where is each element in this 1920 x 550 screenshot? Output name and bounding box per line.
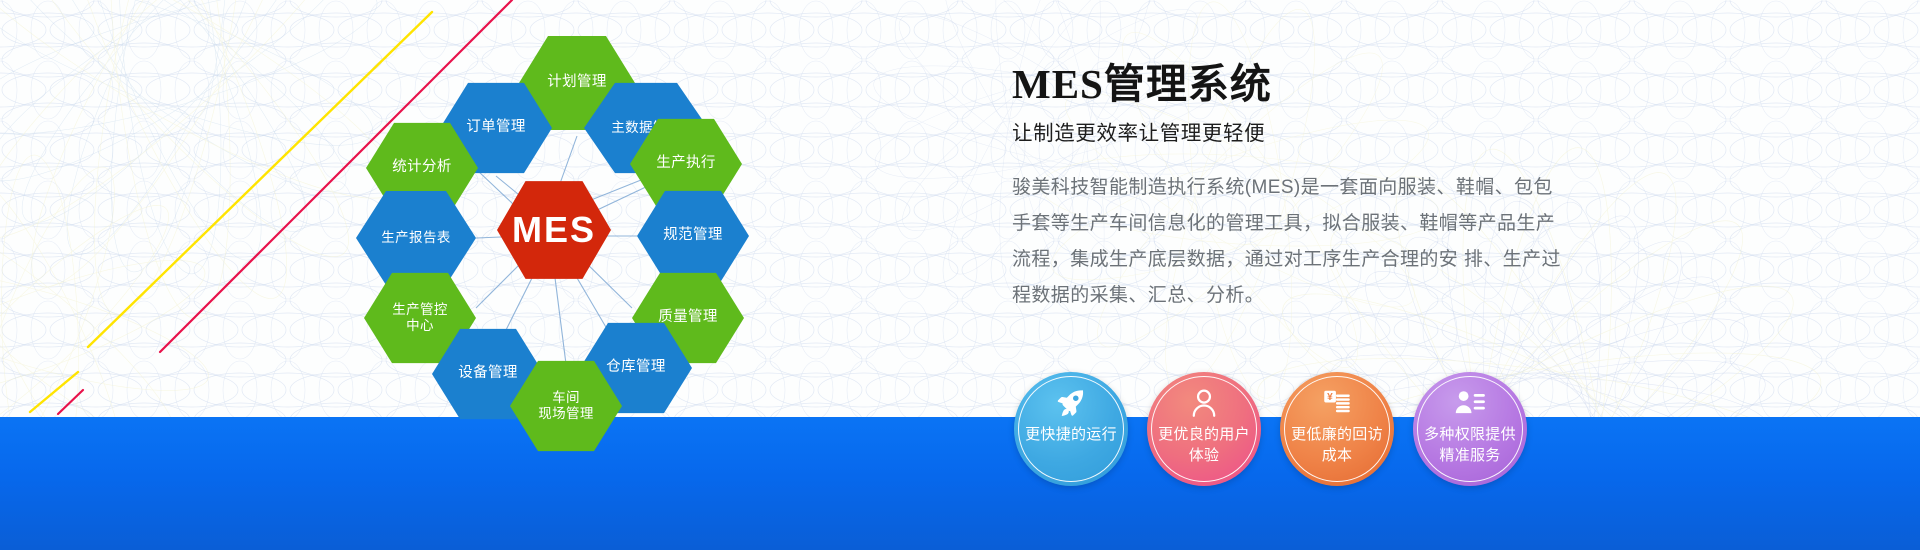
description-paragraph: 骏美科技智能制造执行系统(MES)是一套面向服装、鞋帽、包包手套等生产车间信息化…	[1012, 170, 1572, 314]
hex-node-label: 生产报告表	[381, 230, 451, 246]
badge-label: 更快捷的运行	[1017, 424, 1125, 445]
feature-badge-speed[interactable]: 更快捷的运行	[1014, 372, 1128, 486]
hex-node-label: 仓库管理	[606, 359, 666, 377]
feature-badge-list: 更快捷的运行更优良的用户 体验¥更低廉的回访 成本多种权限提供 精准服务	[1014, 372, 1527, 486]
feature-badge-experience[interactable]: 更优良的用户 体验	[1147, 372, 1261, 486]
hex-node-label: 设备管理	[458, 365, 518, 383]
hex-node-label: 质量管理	[658, 309, 718, 327]
hex-node-label: 订单管理	[466, 119, 526, 137]
badge-label: 多种权限提供 精准服务	[1416, 424, 1524, 466]
hex-node-label: 统计分析	[392, 159, 452, 177]
page-subtitle: 让制造更效率让管理更轻便	[1012, 116, 1612, 146]
user-icon	[1147, 386, 1261, 420]
feature-badge-permission[interactable]: 多种权限提供 精准服务	[1413, 372, 1527, 486]
hex-node-label: 车间 现场管理	[538, 390, 594, 423]
hex-node-label: 生产管控 中心	[392, 302, 448, 335]
hex-node-label: 生产执行	[656, 155, 716, 173]
hex-core-label: MES	[512, 208, 596, 252]
mes-banner: 计划管理订单管理主数据管理统计分析生产执行生产报告表规范管理生产管控 中心质量管…	[0, 0, 1920, 550]
coins-icon: ¥	[1280, 386, 1394, 420]
svg-text:¥: ¥	[1327, 392, 1333, 403]
rocket-icon	[1014, 386, 1128, 420]
badge-label: 更低廉的回访 成本	[1283, 424, 1391, 466]
hex-node-label: 规范管理	[663, 227, 723, 245]
user-list-icon	[1413, 386, 1527, 420]
page-title: MES管理系统	[1012, 62, 1612, 107]
bottom-blue-band	[0, 417, 1920, 550]
feature-badge-cost[interactable]: ¥更低廉的回访 成本	[1280, 372, 1394, 486]
mes-hexagon-diagram: 计划管理订单管理主数据管理统计分析生产执行生产报告表规范管理生产管控 中心质量管…	[330, 8, 820, 440]
content-column: MES管理系统 让制造更效率让管理更轻便 骏美科技智能制造执行系统(MES)是一…	[1012, 62, 1612, 314]
hex-node-label: 计划管理	[547, 74, 607, 92]
badge-label: 更优良的用户 体验	[1150, 424, 1258, 466]
